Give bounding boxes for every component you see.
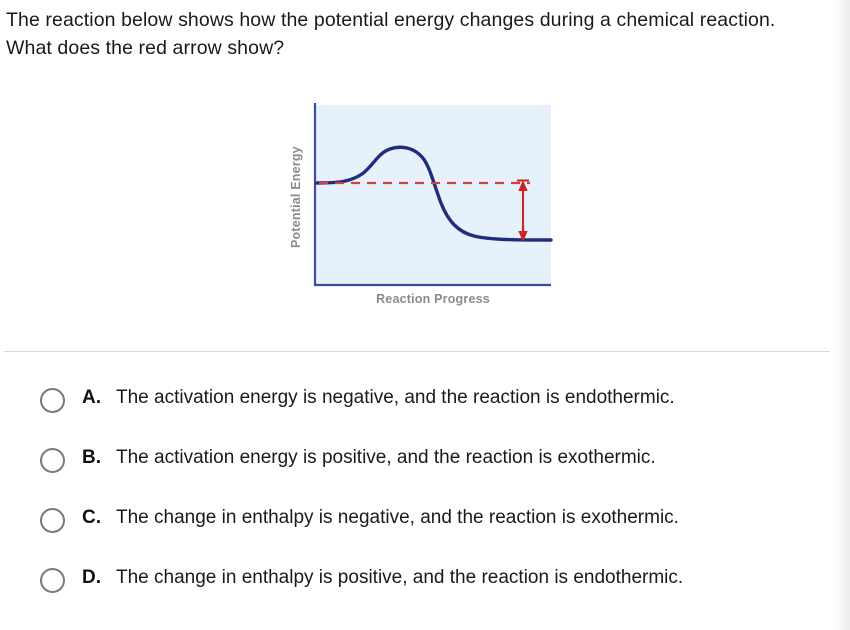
answer-options-list: A. The activation energy is negative, an…: [40, 384, 840, 624]
section-divider: [4, 351, 830, 352]
radio-button-b[interactable]: [40, 448, 65, 473]
x-axis-label: Reaction Progress: [376, 292, 490, 306]
answer-option-b[interactable]: B. The activation energy is positive, an…: [40, 444, 840, 480]
answer-option-a[interactable]: A. The activation energy is negative, an…: [40, 384, 840, 420]
option-letter-b: B.: [82, 444, 116, 472]
option-text-d: The change in enthalpy is positive, and …: [116, 564, 828, 592]
radio-button-a[interactable]: [40, 388, 65, 413]
radio-button-c[interactable]: [40, 508, 65, 533]
option-letter-c: C.: [82, 504, 116, 532]
option-text-c: The change in enthalpy is negative, and …: [116, 504, 828, 532]
radio-button-d[interactable]: [40, 568, 65, 593]
option-letter-d: D.: [82, 564, 116, 592]
answer-option-d[interactable]: D. The change in enthalpy is positive, a…: [40, 564, 840, 600]
plot-background: [315, 105, 551, 285]
answer-option-c[interactable]: C. The change in enthalpy is negative, a…: [40, 504, 840, 540]
option-text-b: The activation energy is positive, and t…: [116, 444, 828, 472]
option-letter-a: A.: [82, 384, 116, 412]
potential-energy-diagram: Potential Energy Reaction Progress: [278, 100, 568, 315]
option-text-a: The activation energy is negative, and t…: [116, 384, 828, 412]
question-stem: The reaction below shows how the potenti…: [6, 6, 776, 62]
y-axis-label: Potential Energy: [289, 146, 303, 248]
question-page: The reaction below shows how the potenti…: [0, 0, 850, 630]
